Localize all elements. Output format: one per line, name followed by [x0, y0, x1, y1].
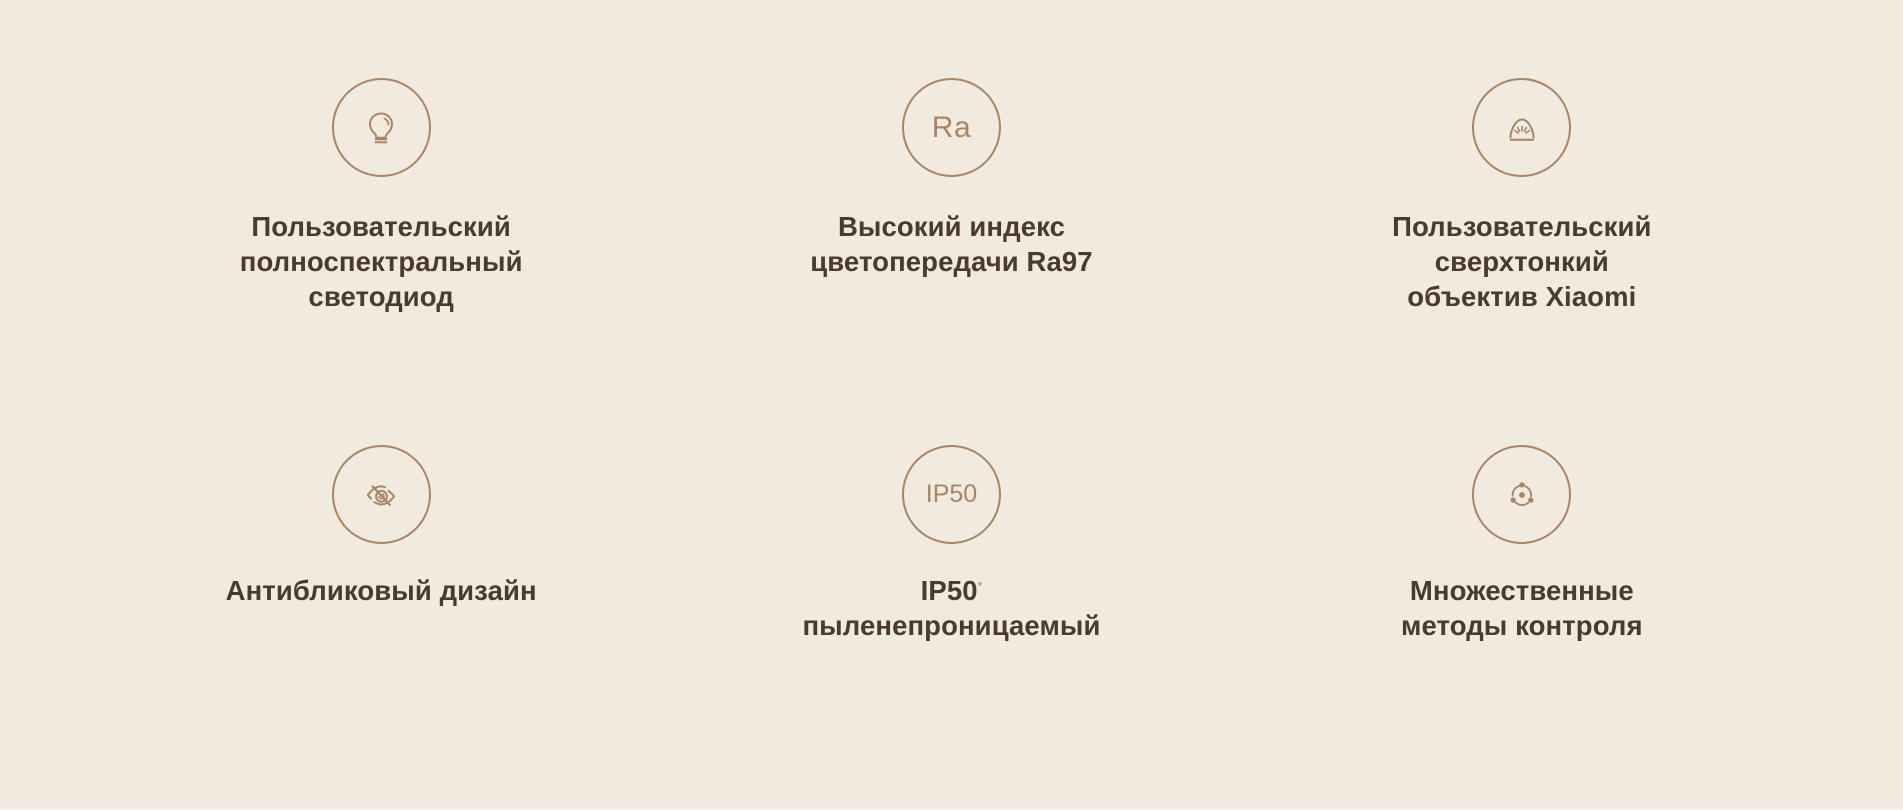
lightbulb-icon-circle [332, 78, 431, 177]
feature-item-multi-control[interactable]: Множественные методы контроля [1237, 385, 1807, 770]
feature-item-ip50-dustproof[interactable]: IP50 IP50* пыленепроницаемый [666, 385, 1236, 770]
feature-label: IP50* пыленепроницаемый [802, 574, 1100, 644]
ip50-rating-icon: IP50 [926, 482, 977, 507]
lightbulb-icon [359, 106, 403, 150]
lens-dome-icon-circle [1472, 78, 1571, 177]
feature-item-full-spectrum-led[interactable]: Пользовательский полноспектральный свето… [96, 0, 666, 385]
features-section: Пользовательский полноспектральный свето… [0, 0, 1903, 810]
ra-index-icon-circle: Ra [902, 78, 1001, 177]
feature-label: Пользовательский полноспектральный свето… [240, 210, 523, 315]
section-bottom-edge [0, 806, 1903, 810]
feature-label: Множественные методы контроля [1401, 574, 1643, 644]
features-grid: Пользовательский полноспектральный свето… [96, 0, 1807, 770]
footnote-marker: * [978, 579, 983, 593]
feature-label: Высокий индекс цветопередачи Ra97 [810, 210, 1092, 280]
ip50-rating-icon-circle: IP50 [902, 445, 1001, 544]
ra-index-icon: Ra [932, 113, 971, 143]
feature-label: Антибликовый дизайн [226, 574, 537, 609]
eye-off-icon-circle [332, 445, 431, 544]
multi-control-icon-circle [1472, 445, 1571, 544]
feature-label: Пользовательский сверхтонкий объектив Xi… [1392, 210, 1651, 315]
eye-off-icon [359, 473, 403, 517]
feature-label-line1: IP50 [921, 575, 978, 606]
feature-item-anti-glare[interactable]: Антибликовый дизайн [96, 385, 666, 770]
lens-dome-icon [1499, 105, 1545, 151]
feature-item-xiaomi-lens[interactable]: Пользовательский сверхтонкий объектив Xi… [1237, 0, 1807, 385]
feature-label-line2: пыленепроницаемый [802, 610, 1100, 641]
feature-item-color-rendering-index[interactable]: Ra Высокий индекс цветопередачи Ra97 [666, 0, 1236, 385]
multi-control-icon [1500, 473, 1544, 517]
